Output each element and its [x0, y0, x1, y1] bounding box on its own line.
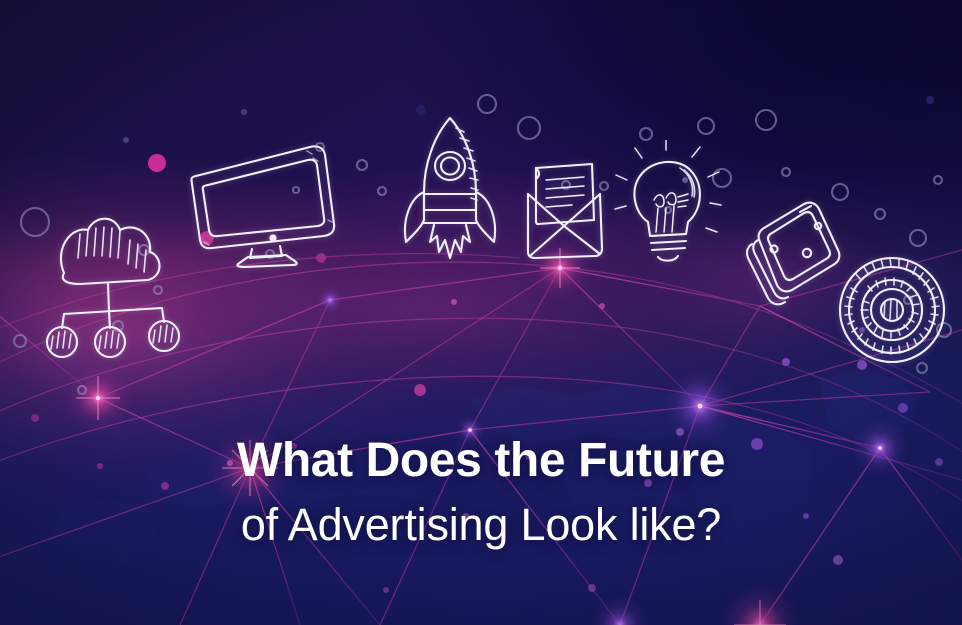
- smartphone-icon: [734, 192, 844, 322]
- advertising-future-banner: What Does the Future of Advertising Look…: [0, 0, 962, 625]
- target-bullseye-icon: [834, 252, 954, 370]
- rocket-icon: [396, 110, 504, 260]
- network-share-icon: [40, 200, 190, 360]
- lightbulb-idea-icon: [614, 140, 724, 265]
- desktop-monitor-icon: [182, 138, 342, 268]
- envelope-mail-icon: [506, 152, 616, 264]
- icon-arc-group: [0, 0, 962, 625]
